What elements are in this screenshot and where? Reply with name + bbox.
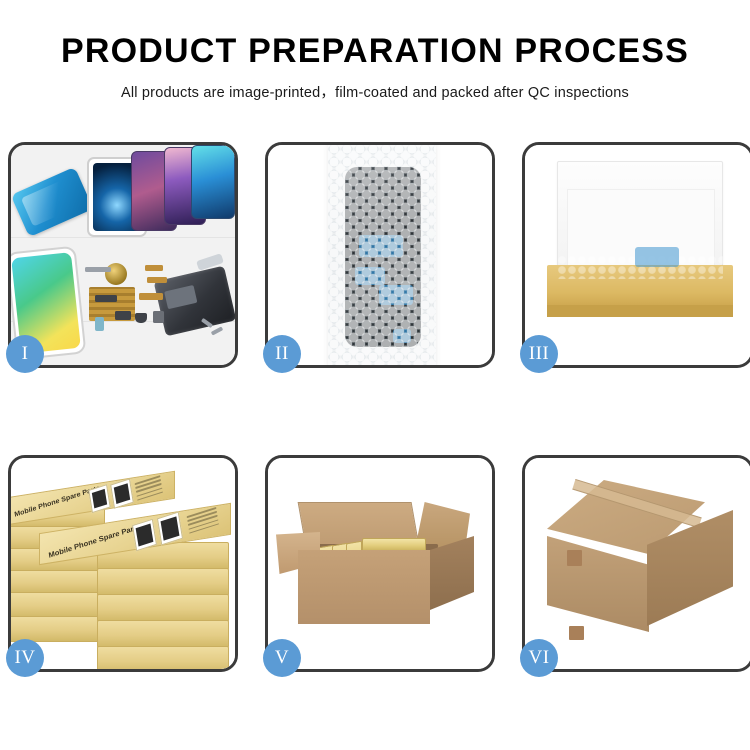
step-2-image (268, 145, 492, 365)
step-4-image: Mobile Phone Spare Parts Mobile Phone Sp… (11, 458, 235, 669)
box-front-edge (547, 305, 733, 317)
step-panel-5[interactable]: V (265, 455, 495, 672)
box-artwork-screen (88, 484, 111, 513)
blue-accent (635, 247, 679, 267)
box-artwork-screen (157, 512, 183, 546)
shelf-line (11, 237, 235, 238)
stacked-box (97, 594, 229, 622)
spare-part (153, 311, 164, 323)
spare-part (139, 293, 163, 300)
box-feature-list (187, 507, 220, 537)
product-preparation-infographic: PRODUCT PREPARATION PROCESS All products… (0, 0, 750, 750)
carton-front (298, 550, 430, 624)
step-3-image (525, 145, 750, 365)
page-title: PRODUCT PREPARATION PROCESS (0, 34, 750, 70)
screw-part (211, 326, 223, 335)
box-artwork-screen (132, 519, 157, 552)
stacked-box (11, 570, 105, 594)
stacked-box (11, 592, 105, 618)
phone-display-blue (191, 145, 235, 219)
wrapped-items-in-box (557, 255, 723, 279)
screen-adhesive-film (11, 167, 93, 237)
bubble-wrap-sheet (328, 145, 436, 365)
steps-grid: I II (8, 142, 742, 672)
step-badge-5: V (263, 639, 301, 677)
step-panel-4[interactable]: Mobile Phone Spare Parts Mobile Phone Sp… (8, 455, 238, 672)
stacked-box (97, 568, 229, 596)
step-badge-1: I (6, 335, 44, 373)
step-6-image (525, 458, 750, 669)
step-badge-4: IV (6, 639, 44, 677)
step-badge-6: VI (520, 639, 558, 677)
step-panel-1[interactable]: I (8, 142, 238, 368)
step-panel-3[interactable]: III (522, 142, 750, 368)
step-badge-2: II (263, 335, 301, 373)
spare-part (147, 277, 167, 283)
spare-part (145, 265, 163, 271)
stacked-box (97, 620, 229, 648)
step-panel-6[interactable]: VI (522, 455, 750, 672)
step-5-image (268, 458, 492, 669)
spare-part (135, 313, 147, 323)
stacked-box (97, 646, 229, 669)
header: PRODUCT PREPARATION PROCESS All products… (0, 0, 750, 102)
spare-part (95, 295, 117, 302)
tape-tab (567, 550, 582, 566)
step-1-image (11, 145, 235, 365)
spare-part (95, 317, 104, 331)
spare-part (85, 267, 111, 272)
page-subtitle: All products are image-printed，film-coat… (0, 81, 750, 102)
bubble-highlights (328, 145, 436, 365)
spare-part (115, 311, 131, 320)
tape-tab (569, 626, 584, 640)
step-panel-2[interactable]: II (265, 142, 495, 368)
box-feature-list (135, 475, 164, 503)
box-artwork-screen (110, 478, 134, 508)
step-badge-3: III (520, 335, 558, 373)
